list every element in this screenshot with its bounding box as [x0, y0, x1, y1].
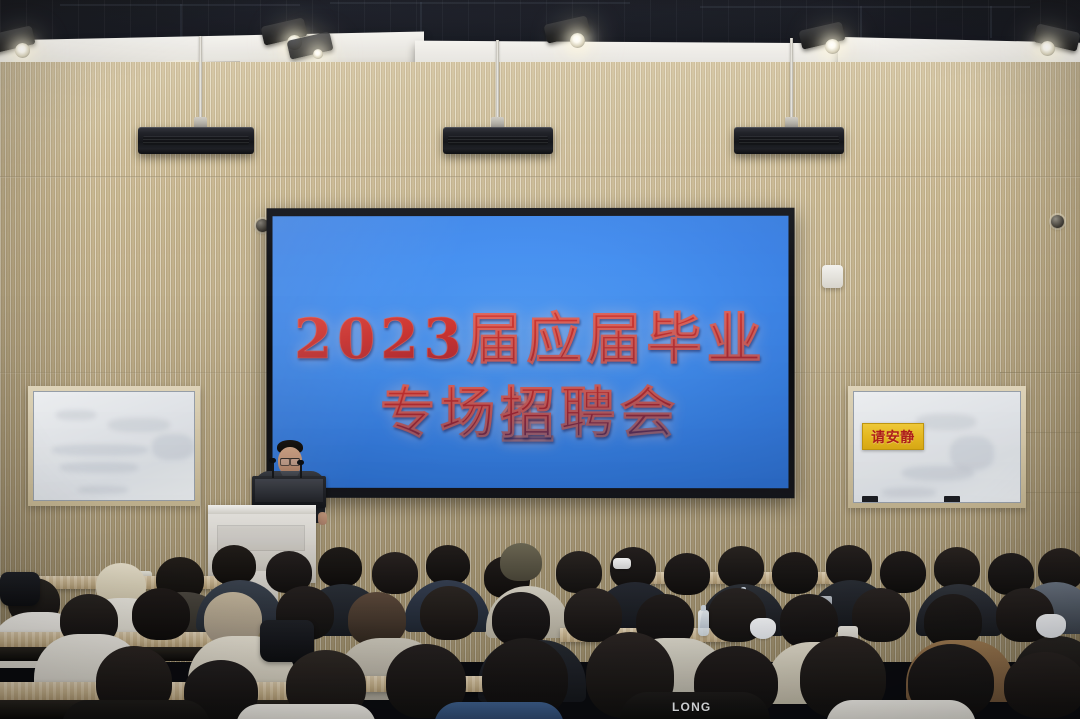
audience-head [772, 552, 818, 594]
water-bottle [698, 610, 709, 636]
wall-speaker-device [822, 265, 843, 288]
wall-seam [0, 176, 1080, 178]
ceiling-speaker [734, 127, 844, 154]
ceiling-truss [330, 2, 630, 4]
ceiling-spotlight [545, 20, 591, 46]
ceiling-speaker [443, 127, 553, 154]
ceiling-truss [990, 6, 992, 38]
audience-head [664, 553, 710, 595]
audience-head [132, 588, 190, 640]
slide-title-line-2: 专场招聘会 [273, 368, 789, 448]
ceiling-truss [700, 6, 1030, 8]
face-mask [750, 618, 776, 639]
presenter-hand [318, 512, 327, 525]
audience-head [420, 586, 478, 640]
speaker-hanging-rod [199, 36, 202, 124]
microphone-stem [272, 462, 274, 478]
shirt-logo-text: LONG [672, 700, 711, 714]
hair-clip [613, 558, 631, 569]
whiteboard-left [28, 386, 200, 506]
audience-head [500, 543, 542, 581]
audience-shoulders [62, 700, 210, 719]
audience-head [318, 547, 362, 587]
face-mask [1036, 614, 1066, 638]
audience-head [934, 547, 980, 589]
ceiling-spotlight [288, 36, 334, 62]
projection-screen-surface: 2023届应届毕业生 专场招聘会 [273, 216, 789, 489]
ceiling-speaker [138, 127, 254, 154]
backpack [0, 572, 40, 606]
audience-head [718, 546, 764, 588]
microphone-stem [300, 464, 302, 478]
podium-monitor [252, 476, 326, 508]
whiteboard-clip [862, 496, 878, 503]
audience-head [372, 552, 418, 594]
audience-head [880, 551, 926, 593]
audience-head [426, 545, 470, 585]
audience-head [1004, 652, 1080, 718]
microphone-head [269, 458, 276, 463]
audience-shoulders [236, 704, 376, 719]
audience-shoulders [434, 702, 564, 719]
microphone-head [297, 460, 304, 465]
speaker-hanging-rod [496, 40, 499, 124]
projection-screen-frame: 2023届应届毕业生 专场招聘会 [267, 208, 795, 499]
ceiling-spotlight [0, 30, 36, 56]
ceiling-spotlight [800, 26, 846, 52]
audience-head [852, 588, 910, 642]
audience-shoulders [826, 700, 976, 719]
speaker-hanging-rod [790, 38, 793, 124]
wall-panel-line [1000, 372, 1080, 373]
audience-head [212, 545, 256, 585]
audience-head [556, 551, 602, 593]
wall-camera-icon [1051, 215, 1064, 228]
whiteboard-clip [944, 496, 960, 503]
quiet-sign-text: 请安静 [871, 427, 915, 447]
quiet-sign: 请安静 [862, 423, 924, 450]
ceiling-truss [180, 4, 182, 38]
ceiling-spotlight [1035, 28, 1080, 54]
lecture-hall-photo: 请安静 2023届应届毕业生 专场招聘会 [0, 0, 1080, 719]
